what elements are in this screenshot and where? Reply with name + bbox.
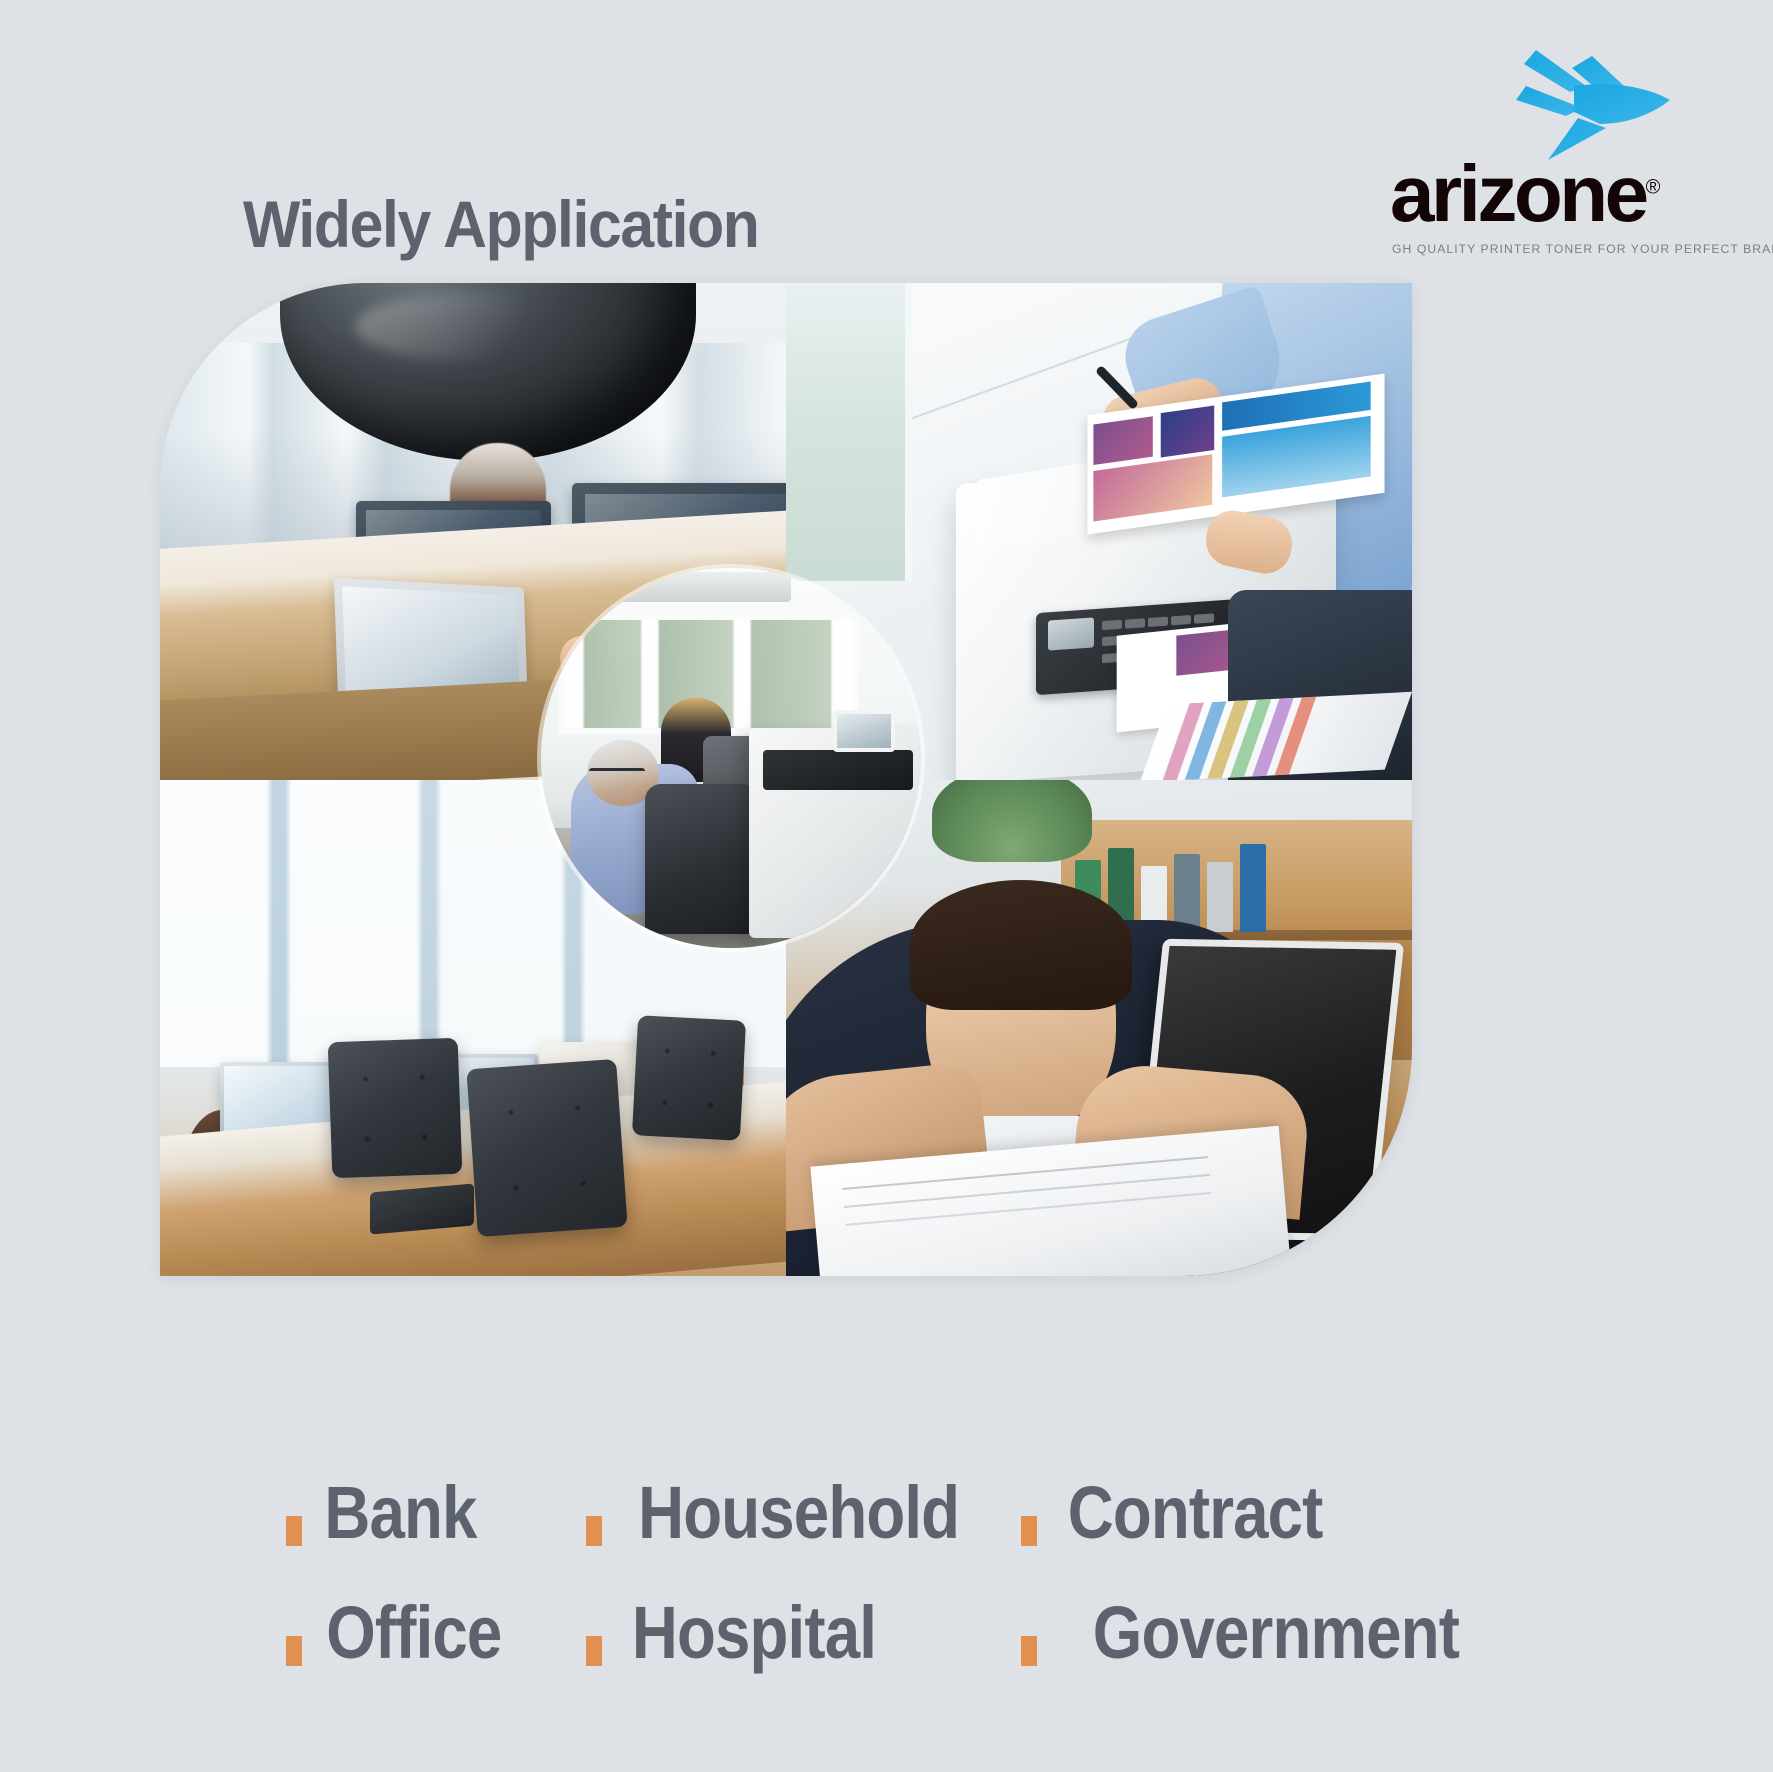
- application-categories: Bank Household Contract Office Hospital …: [286, 1476, 1546, 1716]
- category-label: Hospital: [632, 1596, 876, 1670]
- brand-tagline: GH QUALITY PRINTER TONER FOR YOUR PERFEC…: [1392, 242, 1718, 256]
- category-row-2: Office Hospital Government: [286, 1596, 1546, 1716]
- bullet-icon: [1021, 1636, 1037, 1666]
- bullet-icon: [586, 1636, 602, 1666]
- category-office: Office: [286, 1596, 586, 1670]
- category-row-1: Bank Household Contract: [286, 1476, 1546, 1596]
- bullet-icon: [286, 1636, 302, 1666]
- category-label: Office: [326, 1596, 501, 1670]
- brand-logo: arizone® GH QUALITY PRINTER TONER FOR YO…: [1388, 42, 1718, 262]
- category-bank: Bank: [286, 1476, 586, 1550]
- page-title: Widely Application: [243, 186, 759, 262]
- category-label: Bank: [324, 1476, 476, 1550]
- bullet-icon: [286, 1516, 302, 1546]
- photo-collage: UPTOWN: [160, 283, 1412, 1276]
- category-label: Contract: [1068, 1476, 1323, 1550]
- category-label: Government: [1093, 1596, 1459, 1670]
- brand-name: arizone: [1390, 149, 1646, 238]
- copier-office-photo: [541, 568, 921, 948]
- category-government: Government: [1021, 1596, 1489, 1670]
- category-label: Household: [638, 1476, 959, 1550]
- registered-mark-icon: ®: [1646, 176, 1661, 198]
- category-contract: Contract: [1021, 1476, 1343, 1550]
- category-household: Household: [586, 1476, 1021, 1550]
- category-hospital: Hospital: [586, 1596, 1021, 1670]
- bullet-icon: [586, 1516, 602, 1546]
- collage-circle-overlay: [541, 568, 921, 948]
- bullet-icon: [1021, 1516, 1037, 1546]
- brand-wordmark: arizone®: [1390, 154, 1720, 234]
- bird-icon: [1474, 42, 1674, 162]
